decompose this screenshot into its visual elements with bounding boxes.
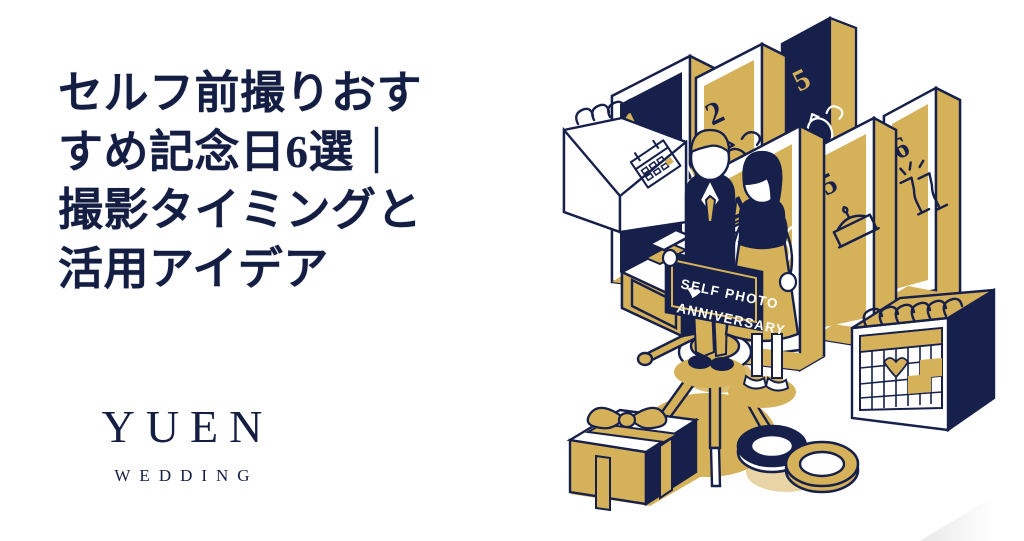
brand-tagline: WEDDING <box>62 466 302 486</box>
headline-block: セルフ前撮りおす すめ記念日6選｜ 撮影タイミングと 活用アイデア <box>58 64 528 298</box>
brand-name: YUEN <box>62 404 302 450</box>
blog-header-banner: セルフ前撮りおす すめ記念日6選｜ 撮影タイミングと 活用アイデア YUEN W… <box>0 0 1024 541</box>
wedding-rings-icon <box>738 426 858 492</box>
page-title: セルフ前撮りおす すめ記念日6選｜ 撮影タイミングと 活用アイデア <box>58 64 528 298</box>
headline-line-3: 撮影タイミングと <box>58 181 528 240</box>
headline-line-4: 活用アイデア <box>58 240 528 299</box>
hero-illustration: .nv{fill:#16204a} .gd{fill:#d5b15a} .gdk… <box>500 0 1024 541</box>
headline-line-1: セルフ前撮りおす <box>58 64 528 123</box>
gift-box-icon <box>570 408 702 510</box>
brand-logo: YUEN WEDDING <box>62 404 302 486</box>
headline-line-2: すめ記念日6選｜ <box>58 123 528 182</box>
